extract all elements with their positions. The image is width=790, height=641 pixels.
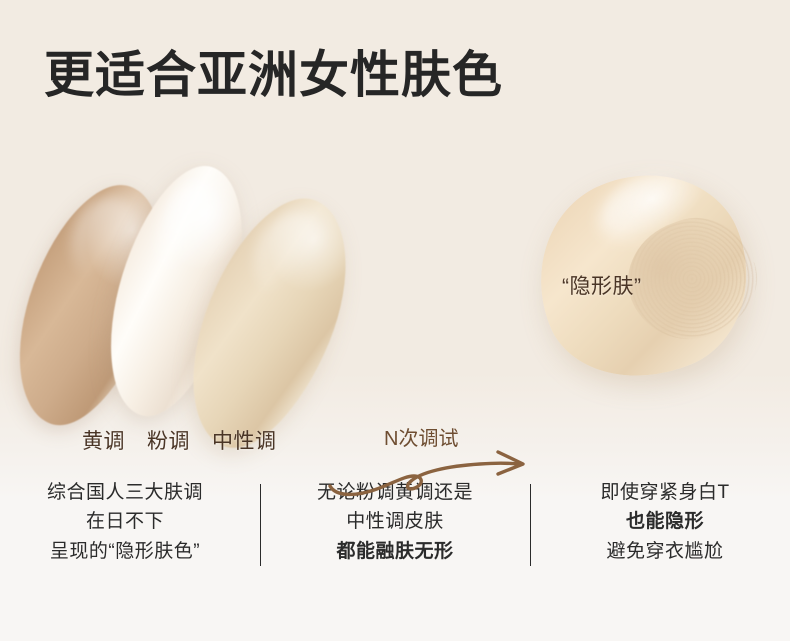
tone-label-pink: 粉调 <box>147 425 190 455</box>
result-label: “隐形肤” <box>562 270 642 300</box>
tone-label-yellow: 黄调 <box>82 425 125 455</box>
benefit-skin-tones: 综合国人三大肤调 在日不下 呈现的“隐形肤色” <box>3 478 248 572</box>
benefit-line: 即使穿紧身白T <box>549 478 782 507</box>
column-divider <box>260 484 261 566</box>
benefit-line: 避免穿衣尴尬 <box>549 537 782 566</box>
result-swatch-group: “隐形肤” <box>510 158 770 408</box>
benefit-line: 在日不下 <box>9 507 242 536</box>
transition-arrow-group: N次调试 <box>322 422 542 502</box>
tone-label-neutral: 中性调 <box>212 425 277 455</box>
hero-stage: 黄调 粉调 中性调 N次调试 “隐形肤” <box>0 150 790 460</box>
page-title: 更适合亚洲女性肤色 <box>44 46 503 105</box>
benefit-line: 呈现的“隐形肤色” <box>9 537 242 566</box>
benefit-line: 中性调皮肤 <box>279 507 512 536</box>
foundation-swatch-group <box>28 160 358 450</box>
curved-arrow-icon <box>322 444 542 502</box>
tone-label-row: 黄调 粉调 中性调 <box>82 425 277 455</box>
benefit-line-emphasis: 也能隐形 <box>549 507 782 536</box>
benefit-line: 综合国人三大肤调 <box>9 478 242 507</box>
benefit-white-tee: 即使穿紧身白T 也能隐形 避免穿衣尴尬 <box>543 478 788 572</box>
benefit-line-emphasis: 都能融肤无形 <box>279 537 512 566</box>
promo-page: 更适合亚洲女性肤色 黄调 粉调 中性调 N次调试 “隐形肤” <box>0 0 790 641</box>
